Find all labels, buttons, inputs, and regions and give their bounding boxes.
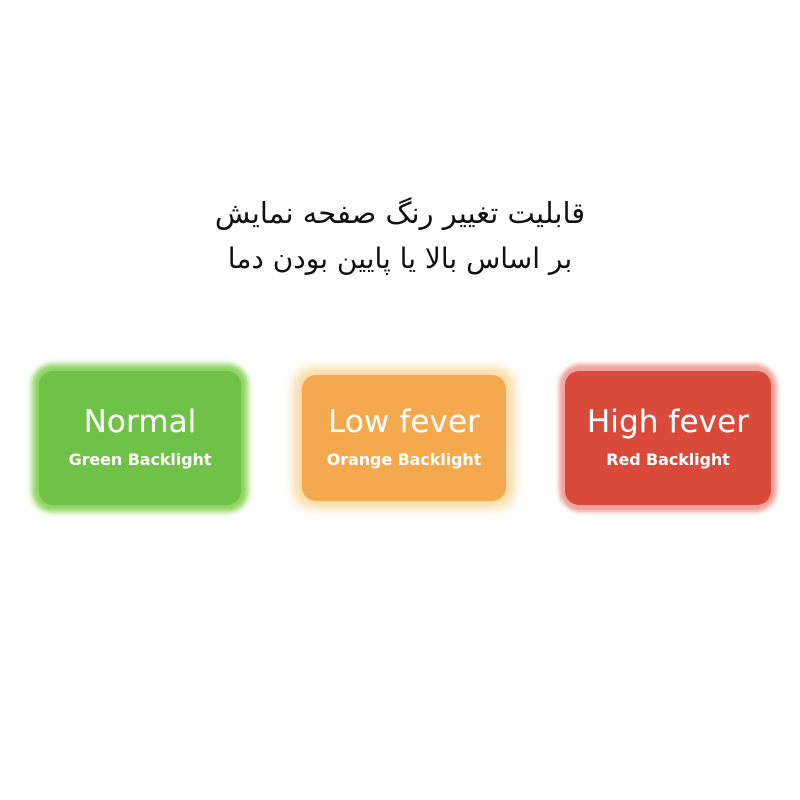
card-body-orange: Low fever Orange Backlight [302, 375, 506, 501]
card-title-low-fever: Low fever [328, 404, 480, 440]
backlight-card-row: Normal Green Backlight Low fever Orange … [28, 360, 780, 520]
backlight-card-normal: Normal Green Backlight [28, 360, 252, 516]
card-subtitle-normal: Green Backlight [69, 449, 212, 471]
heading-line-2: بر اساس بالا یا پایین بودن دما [0, 236, 800, 282]
card-body-green: Normal Green Backlight [39, 371, 241, 505]
card-body-red: High fever Red Backlight [565, 371, 771, 505]
backlight-card-high-fever: High fever Red Backlight [556, 360, 780, 516]
card-subtitle-low-fever: Orange Backlight [327, 449, 482, 471]
card-title-high-fever: High fever [587, 404, 749, 440]
card-subtitle-high-fever: Red Backlight [606, 449, 729, 471]
heading-line-1: قابلیت تغییر رنگ صفحه نمایش [0, 190, 800, 236]
card-title-normal: Normal [84, 404, 197, 440]
promo-graphic: قابلیت تغییر رنگ صفحه نمایش بر اساس بالا… [0, 0, 800, 800]
heading-block: قابلیت تغییر رنگ صفحه نمایش بر اساس بالا… [0, 190, 800, 282]
backlight-card-low-fever: Low fever Orange Backlight [292, 360, 516, 516]
